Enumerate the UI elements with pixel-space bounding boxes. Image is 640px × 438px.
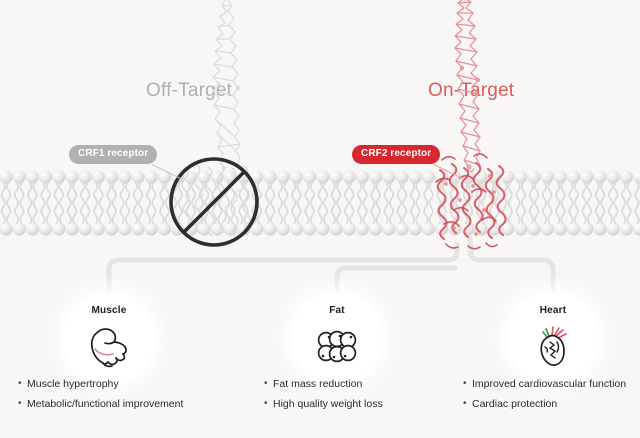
list-item: • Improved cardiovascular function <box>463 374 626 394</box>
bullet-text: High quality weight loss <box>273 394 383 414</box>
list-item: • High quality weight loss <box>264 394 383 414</box>
bullet-text: Improved cardiovascular function <box>472 374 626 394</box>
bullet-text: Fat mass reduction <box>273 374 362 394</box>
bullet-marker-icon: • <box>18 394 27 414</box>
node-label-heart: Heart <box>507 305 599 316</box>
crf2-receptor-icon <box>424 148 516 256</box>
bullet-marker-icon: • <box>463 374 472 394</box>
node-label-fat: Fat <box>291 305 383 316</box>
target-node-muscle[interactable]: Muscle <box>63 292 155 384</box>
lipid-bilayer-membrane <box>0 170 640 236</box>
bullet-marker-icon: • <box>264 394 273 414</box>
bullet-text: Cardiac protection <box>472 394 557 414</box>
target-node-fat[interactable]: Fat <box>291 292 383 384</box>
bullet-list-heart: • Improved cardiovascular function • Car… <box>463 374 626 414</box>
list-item: • Cardiac protection <box>463 394 626 414</box>
bullet-marker-icon: • <box>264 374 273 394</box>
bullet-list-fat: • Fat mass reduction • High quality weig… <box>264 374 383 414</box>
bullet-list-muscle: • Muscle hypertrophy • Metabolic/functio… <box>18 374 183 414</box>
anatomical-heart-icon <box>528 323 578 371</box>
bullet-marker-icon: • <box>463 394 472 414</box>
list-item: • Fat mass reduction <box>264 374 383 394</box>
adipocyte-cluster-icon <box>312 323 362 371</box>
node-label-muscle: Muscle <box>63 305 155 316</box>
crf1-receptor-badge[interactable]: CRF1 receptor <box>69 145 157 164</box>
list-item: • Muscle hypertrophy <box>18 374 183 394</box>
list-item: • Metabolic/functional improvement <box>18 394 183 414</box>
bullet-marker-icon: • <box>18 374 27 394</box>
bullet-text: Metabolic/functional improvement <box>27 394 183 414</box>
flexed-bicep-icon <box>84 323 134 371</box>
no-entry-icon <box>164 152 264 252</box>
target-node-heart[interactable]: Heart <box>507 292 599 384</box>
bullet-text: Muscle hypertrophy <box>27 374 119 394</box>
diagram-canvas: Off-Target On-Target <box>0 0 640 438</box>
crf2-receptor-badge[interactable]: CRF2 receptor <box>352 145 440 164</box>
